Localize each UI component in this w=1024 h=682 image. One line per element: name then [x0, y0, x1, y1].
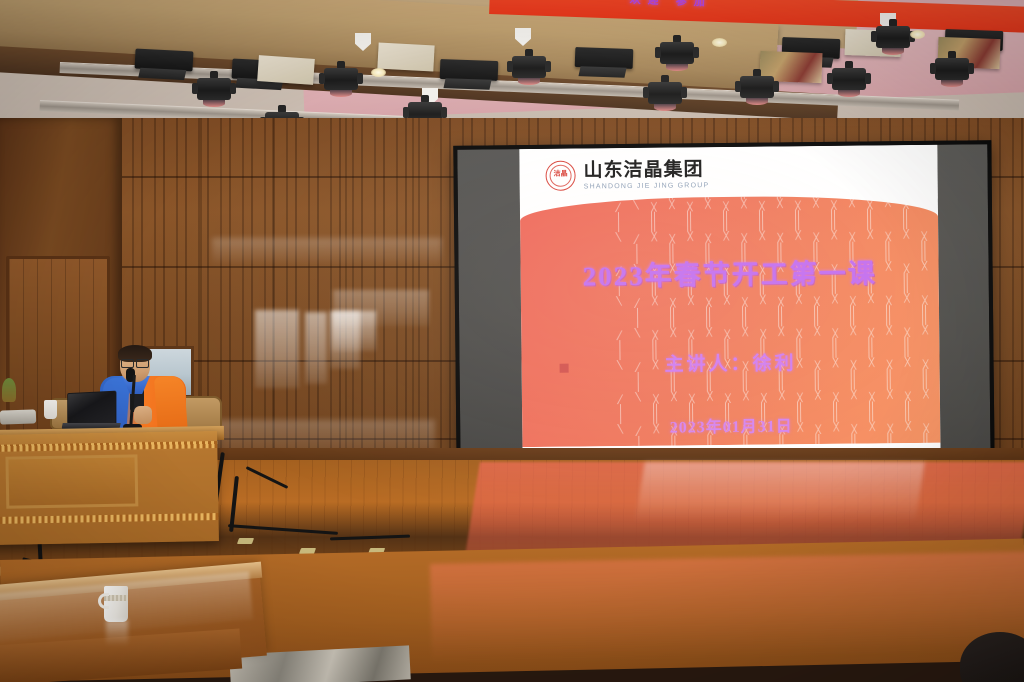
led-banner-text: 欢迎 参加	[629, 0, 712, 10]
mug-handle	[98, 593, 109, 609]
hexagon-cell	[815, 195, 849, 198]
slide-header: 洁晶 山东洁晶集团 SHANDONG JIE JING GROUP	[519, 145, 938, 203]
company-logo-text: 山东洁晶集团 SHANDONG JIE JING GROUP	[583, 160, 709, 190]
hexagon-cell	[726, 211, 760, 231]
seal-text: 洁晶	[547, 171, 575, 179]
hexagon-cell	[906, 209, 940, 229]
company-name-en: SHANDONG JIE JING GROUP	[584, 182, 710, 190]
company-name-cn: 山东洁晶集团	[583, 160, 709, 180]
stage-spotlight	[660, 42, 694, 71]
stage-spotlight	[324, 68, 358, 97]
hexagon-cell	[834, 209, 868, 229]
presentation-slide: 洁晶 山东洁晶集团 SHANDONG JIE JING GROUP 2023年春…	[519, 145, 940, 473]
hexagon-cell	[654, 211, 688, 231]
ceiling-bulb	[712, 38, 727, 47]
podium-trim-upper	[0, 441, 217, 452]
white-ceramic-mug	[100, 586, 130, 622]
slide-date-line: 2023年01月31日	[522, 411, 940, 439]
stage-spotlight	[197, 78, 231, 107]
hexagon-cell	[745, 306, 779, 326]
unlit-screen-area-right	[937, 144, 990, 469]
wall-window-reflection	[255, 310, 299, 388]
conference-hall-photo: 欢迎 参加	[0, 0, 1024, 682]
stage-spotlight	[648, 82, 682, 111]
laptop-screen	[67, 391, 116, 427]
stage-spotlight	[832, 68, 866, 97]
laptop[interactable]	[62, 392, 118, 432]
projection-screen[interactable]: 洁晶 山东洁晶集团 SHANDONG JIE JING GROUP 2023年春…	[453, 140, 994, 478]
podium-trim-lower	[0, 513, 219, 524]
slide-body: 2023年春节开工第一课 主讲人：徐利 2023年01月31日	[520, 195, 941, 447]
paper-cup	[44, 400, 57, 419]
unlit-screen-area-left	[457, 149, 522, 474]
hexagon-cell	[781, 306, 815, 326]
barn-door-light	[135, 48, 194, 71]
hexagon-cell	[817, 306, 851, 326]
reflector-panel	[377, 43, 434, 72]
hexagon-cell	[870, 209, 904, 229]
slide-speaker-line: 主讲人：徐利	[521, 347, 939, 378]
hexagon-cell	[925, 305, 941, 325]
hexagon-cell	[853, 305, 887, 325]
wall-window-reflection	[305, 312, 327, 384]
honeycomb-pattern	[654, 195, 941, 446]
hexagon-cell	[798, 210, 832, 230]
podium-front-panel	[5, 454, 138, 508]
eyeglasses-icon	[120, 359, 150, 367]
stage-spotlight	[876, 26, 910, 55]
hexagon-cell	[762, 210, 796, 230]
hexagon-cell	[637, 308, 671, 328]
barn-door-light	[440, 59, 499, 81]
wooden-podium	[0, 431, 219, 545]
mug-reflection	[106, 620, 128, 646]
wall-reflection	[212, 238, 442, 264]
presenter-hand	[134, 406, 152, 424]
wall-window-reflection	[333, 290, 429, 326]
stage-spotlight	[740, 76, 774, 105]
slide-title: 2023年春节开工第一课	[520, 251, 938, 294]
stage-spotlight	[935, 58, 969, 87]
hexagon-cell	[889, 305, 923, 325]
hexagon-cell	[851, 195, 885, 198]
stage-spotlight	[512, 56, 546, 85]
floor-tape-mark	[237, 538, 254, 544]
hexagon-cell	[618, 212, 652, 232]
hexagon-cell	[887, 195, 921, 198]
barn-door-light	[575, 47, 634, 69]
ceiling-bulb	[910, 30, 925, 39]
reflector-panel	[257, 55, 315, 85]
stage-front-reflection	[430, 551, 1024, 664]
hexagon-cell	[709, 307, 743, 327]
desk-tray	[0, 409, 36, 424]
floor-highlight-reflection	[635, 462, 925, 522]
hexagon-cell	[673, 307, 707, 327]
ceiling-bulb	[371, 68, 386, 77]
company-seal-icon: 洁晶	[545, 161, 575, 191]
hexagon-cell	[690, 211, 724, 231]
desk-plant	[2, 378, 16, 402]
